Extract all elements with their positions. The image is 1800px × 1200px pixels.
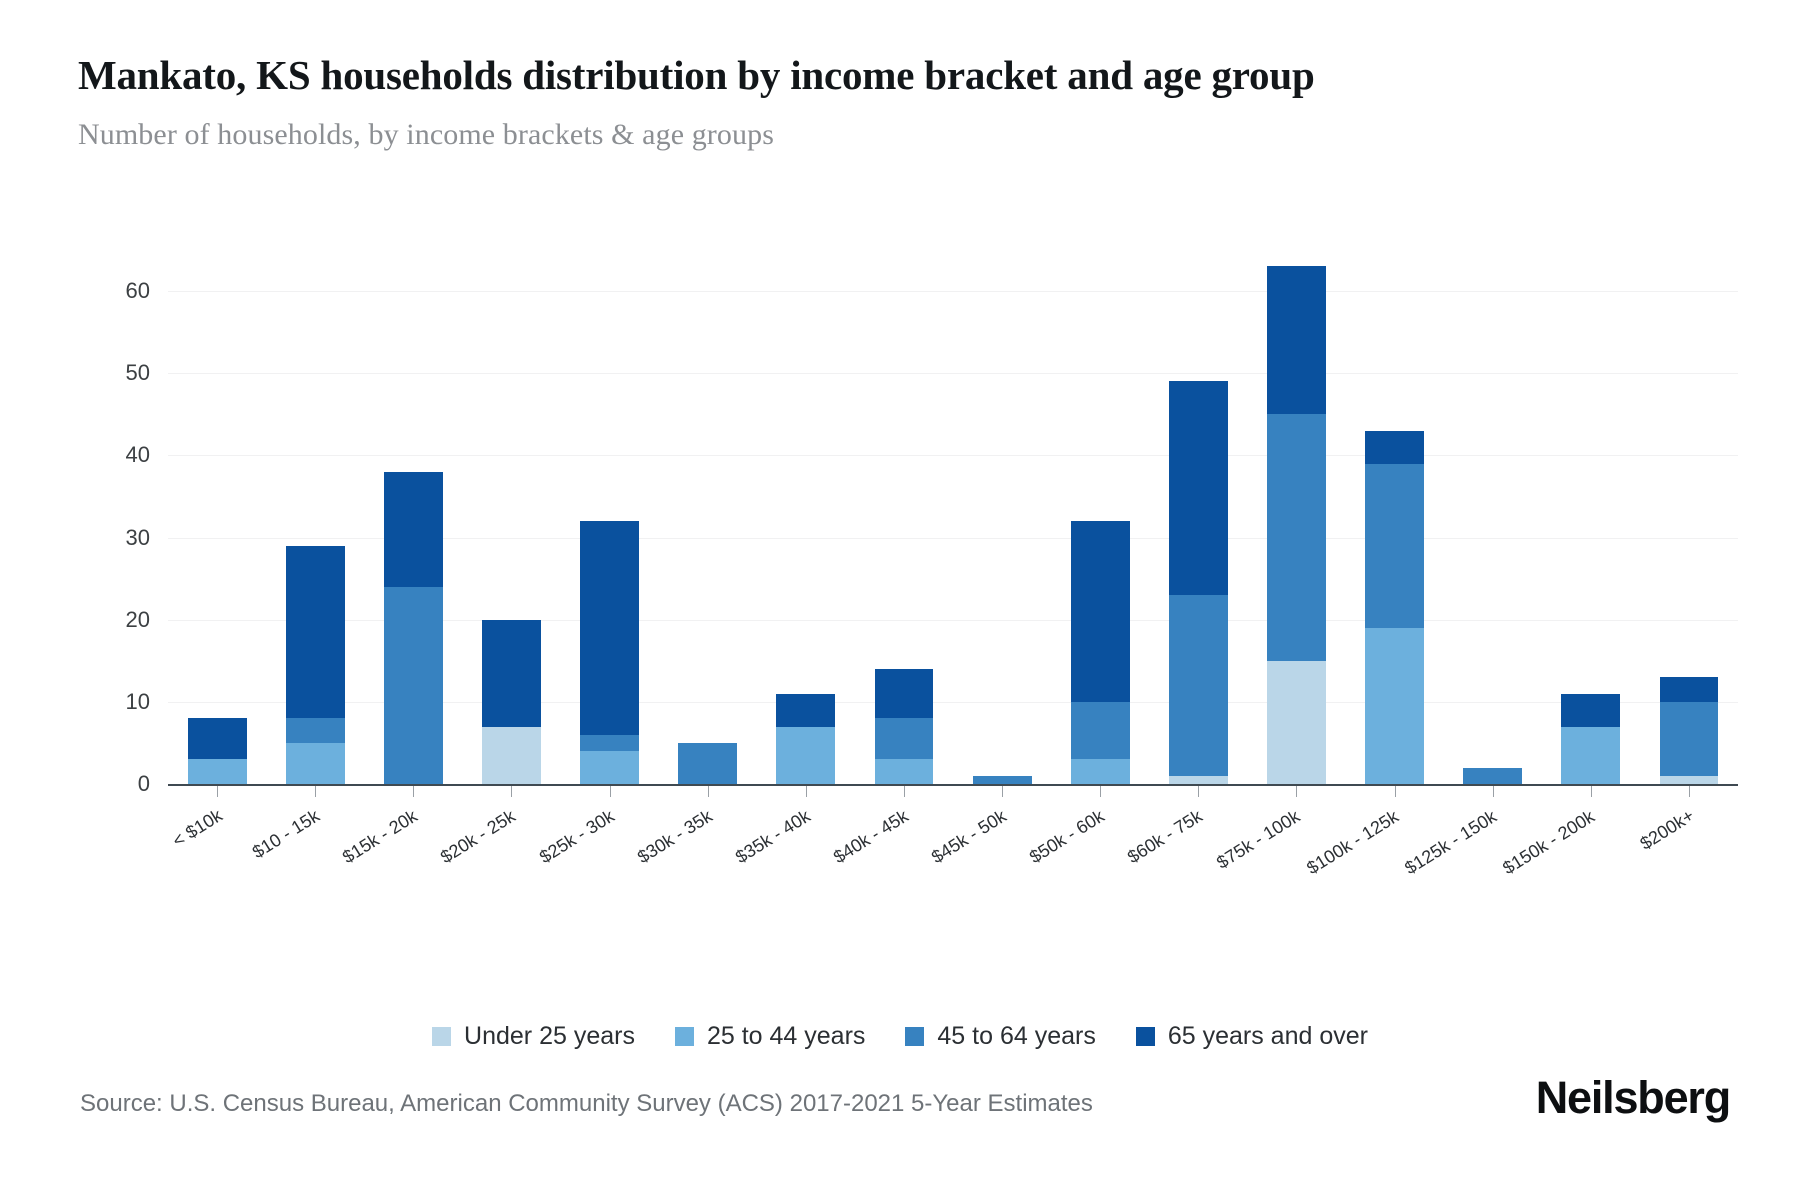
bar-column[interactable] <box>364 250 462 784</box>
bar-column[interactable] <box>953 250 1051 784</box>
bar-column[interactable] <box>462 250 560 784</box>
bar-segment[interactable] <box>776 727 835 785</box>
y-tick-label: 30 <box>126 525 150 551</box>
bar-segment[interactable] <box>1267 266 1326 414</box>
x-tick-mark <box>1689 786 1690 797</box>
bar-stack[interactable] <box>973 776 1032 784</box>
x-tick-mark <box>1100 786 1101 797</box>
x-tick-cell <box>1444 786 1542 798</box>
x-label-cell: < $10k <box>168 798 266 918</box>
x-tick-mark <box>904 786 905 797</box>
bar-segment[interactable] <box>286 546 345 719</box>
x-tick-mark <box>217 786 218 797</box>
bar-segment[interactable] <box>188 759 247 784</box>
legend-item[interactable]: 25 to 44 years <box>675 1022 865 1051</box>
bar-column[interactable] <box>855 250 953 784</box>
x-tick-mark <box>1395 786 1396 797</box>
x-tick-cell <box>1640 786 1738 798</box>
x-tick-mark <box>511 786 512 797</box>
bar-segment[interactable] <box>1071 702 1130 760</box>
bar-column[interactable] <box>561 250 659 784</box>
x-tick-cell <box>855 786 953 798</box>
bar-stack[interactable] <box>1561 694 1620 784</box>
x-tick-mark <box>708 786 709 797</box>
legend-item[interactable]: 65 years and over <box>1136 1022 1368 1051</box>
y-tick-label: 10 <box>126 689 150 715</box>
x-tick-cell <box>561 786 659 798</box>
bar-segment[interactable] <box>1267 414 1326 660</box>
bar-segment[interactable] <box>482 620 541 727</box>
x-axis-ticks <box>168 786 1738 798</box>
y-tick-label: 40 <box>126 442 150 468</box>
bar-segment[interactable] <box>875 759 934 784</box>
bar-stack[interactable] <box>1463 768 1522 784</box>
y-axis: 0102030405060 <box>78 250 150 784</box>
brand-logo: Neilsberg <box>1536 1072 1730 1124</box>
bar-stack[interactable] <box>1267 266 1326 784</box>
y-tick-label: 0 <box>138 771 150 797</box>
bar-segment[interactable] <box>1169 776 1228 784</box>
x-tick-cell <box>1051 786 1149 798</box>
bar-segment[interactable] <box>482 727 541 785</box>
bar-segment[interactable] <box>1267 661 1326 784</box>
plot-area: 0102030405060 < $10k$10 - 15k$15k - 20k$… <box>78 250 1738 800</box>
bar-segment[interactable] <box>1071 759 1130 784</box>
bar-column[interactable] <box>659 250 757 784</box>
bar-column[interactable] <box>1247 250 1345 784</box>
x-tick-mark <box>1493 786 1494 797</box>
y-tick-label: 50 <box>126 360 150 386</box>
bar-column[interactable] <box>1542 250 1640 784</box>
x-tick-cell <box>364 786 462 798</box>
page-title: Mankato, KS households distribution by i… <box>78 48 1578 102</box>
chart-page: Mankato, KS households distribution by i… <box>0 0 1800 1200</box>
bar-column[interactable] <box>1444 250 1542 784</box>
legend-swatch-icon <box>905 1027 924 1046</box>
bar-column[interactable] <box>1640 250 1738 784</box>
bar-segment[interactable] <box>286 718 345 743</box>
bar-stack[interactable] <box>678 743 737 784</box>
legend-label: 25 to 44 years <box>707 1022 865 1051</box>
x-tick-mark <box>610 786 611 797</box>
chart-subtitle: Number of households, by income brackets… <box>78 118 1638 152</box>
x-tick-cell <box>953 786 1051 798</box>
bar-segment[interactable] <box>384 587 443 784</box>
bar-segment[interactable] <box>1365 464 1424 628</box>
legend-label: Under 25 years <box>464 1022 635 1051</box>
legend-swatch-icon <box>432 1027 451 1046</box>
x-tick-cell <box>1542 786 1640 798</box>
chart-header: Mankato, KS households distribution by i… <box>78 48 1638 152</box>
source-note: Source: U.S. Census Bureau, American Com… <box>80 1090 1093 1118</box>
legend-label: 45 to 64 years <box>937 1022 1095 1051</box>
legend-item[interactable]: 45 to 64 years <box>905 1022 1095 1051</box>
bar-stack[interactable] <box>1660 677 1719 784</box>
x-tick-mark <box>413 786 414 797</box>
x-tick-mark <box>1591 786 1592 797</box>
x-tick-cell <box>1346 786 1444 798</box>
chart-legend: Under 25 years25 to 44 years45 to 64 yea… <box>0 1022 1800 1051</box>
x-tick-cell <box>168 786 266 798</box>
bar-segment[interactable] <box>1169 595 1228 776</box>
bar-column[interactable] <box>168 250 266 784</box>
bar-column[interactable] <box>1346 250 1444 784</box>
bar-stack[interactable] <box>286 546 345 784</box>
bar-segment[interactable] <box>973 776 1032 784</box>
bar-stack[interactable] <box>482 620 541 784</box>
bar-stack[interactable] <box>875 669 934 784</box>
x-tick-label: $200k+ <box>1636 805 1698 854</box>
bar-stack[interactable] <box>1365 431 1424 784</box>
bar-stack[interactable] <box>1071 521 1130 784</box>
x-tick-mark <box>1002 786 1003 797</box>
x-tick-mark <box>315 786 316 797</box>
bar-segment[interactable] <box>1660 776 1719 784</box>
bar-segment[interactable] <box>678 743 737 784</box>
legend-label: 65 years and over <box>1168 1022 1368 1051</box>
bar-column[interactable] <box>1149 250 1247 784</box>
x-tick-mark <box>1198 786 1199 797</box>
x-axis-labels: < $10k$10 - 15k$15k - 20k$20k - 25k$25k … <box>168 798 1738 918</box>
legend-item[interactable]: Under 25 years <box>432 1022 635 1051</box>
bar-segment[interactable] <box>1071 521 1130 702</box>
y-tick-label: 60 <box>126 278 150 304</box>
bar-segment[interactable] <box>1561 727 1620 785</box>
bar-segment[interactable] <box>875 669 934 718</box>
bar-stack[interactable] <box>580 521 639 784</box>
bar-segment[interactable] <box>384 472 443 587</box>
bar-segment[interactable] <box>1660 702 1719 776</box>
bar-stack[interactable] <box>384 472 443 784</box>
x-tick-cell <box>1149 786 1247 798</box>
x-tick-cell <box>462 786 560 798</box>
bar-segment[interactable] <box>776 694 835 727</box>
bar-segment[interactable] <box>188 718 247 759</box>
bar-segment[interactable] <box>580 521 639 735</box>
bar-segment[interactable] <box>875 718 934 759</box>
bar-segment[interactable] <box>1463 768 1522 784</box>
x-tick-cell <box>1247 786 1345 798</box>
x-tick-cell <box>659 786 757 798</box>
bar-segment[interactable] <box>1561 694 1620 727</box>
bar-stack[interactable] <box>1169 381 1228 784</box>
x-label-cell: $200k+ <box>1640 798 1738 918</box>
y-tick-label: 20 <box>126 607 150 633</box>
x-label-cell: $150k - 200k <box>1542 798 1640 918</box>
x-tick-mark <box>806 786 807 797</box>
bar-segment[interactable] <box>286 743 345 784</box>
x-tick-cell <box>757 786 855 798</box>
legend-swatch-icon <box>1136 1027 1155 1046</box>
x-tick-cell <box>266 786 364 798</box>
bar-column[interactable] <box>266 250 364 784</box>
bar-column[interactable] <box>757 250 855 784</box>
bars-container <box>168 250 1738 784</box>
bar-segment[interactable] <box>580 735 639 751</box>
bar-column[interactable] <box>1051 250 1149 784</box>
x-tick-mark <box>1296 786 1297 797</box>
bar-segment[interactable] <box>1169 381 1228 595</box>
bar-stack[interactable] <box>188 718 247 784</box>
bar-segment[interactable] <box>580 751 639 784</box>
legend-swatch-icon <box>675 1027 694 1046</box>
x-tick-label: < $10k <box>169 805 226 852</box>
bar-segment[interactable] <box>1365 431 1424 464</box>
bar-segment[interactable] <box>1365 628 1424 784</box>
bar-stack[interactable] <box>776 694 835 784</box>
bar-segment[interactable] <box>1660 677 1719 702</box>
